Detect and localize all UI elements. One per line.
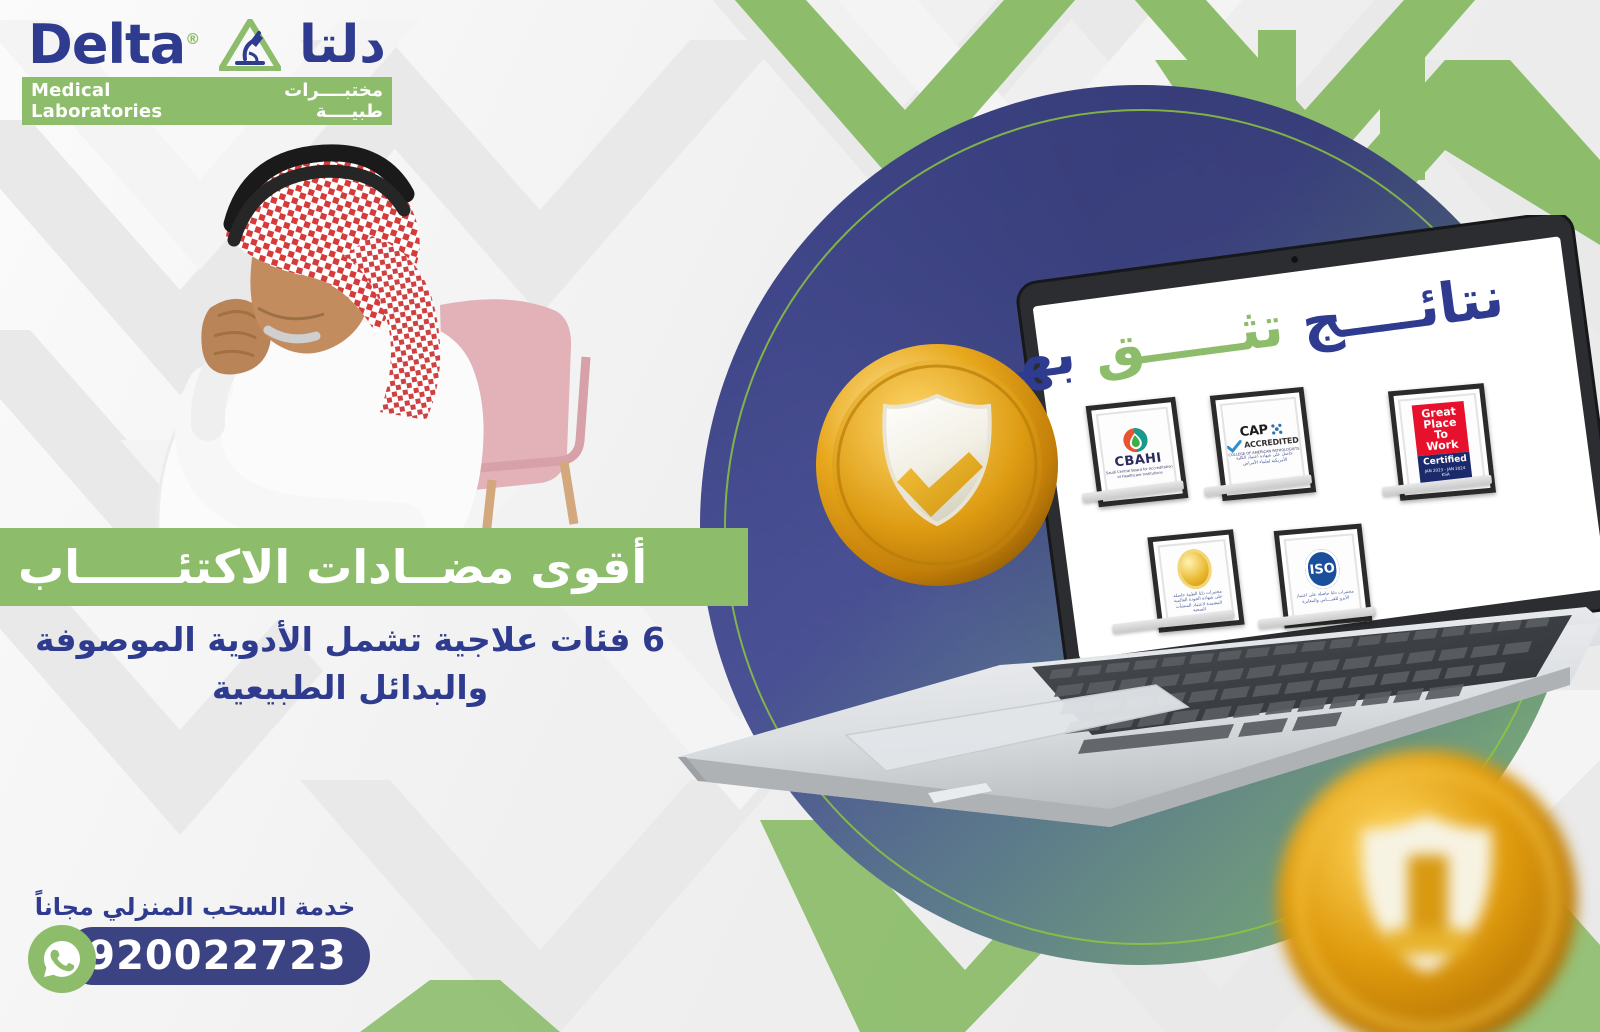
gold-coin-trophy-icon xyxy=(1262,745,1592,1032)
brand-tagline-ar: مختبــــرات طبيــــة xyxy=(227,80,383,122)
poster-canvas: Delta® دلتا Medical Laboratories مختبـــ… xyxy=(0,0,1600,1032)
subheadline-line-1: 6 فئات علاجية تشمل الأدوية الموصوفة xyxy=(0,616,700,664)
brand-tagline-bar: Medical Laboratories مختبــــرات طبيــــ… xyxy=(22,77,392,125)
gold-coin-shield-check-icon xyxy=(812,340,1062,590)
headline-text: أقوى مضــادات الاكتئــــــاب xyxy=(0,540,681,594)
hero-photo-man xyxy=(140,140,610,540)
brand-logo: Delta® دلتا Medical Laboratories مختبـــ… xyxy=(22,18,392,125)
subheadline: 6 فئات علاجية تشمل الأدوية الموصوفة والب… xyxy=(0,616,700,712)
headline-band: أقوى مضــادات الاكتئــــــاب xyxy=(0,528,748,606)
brand-name-ar: دلتا xyxy=(299,19,386,71)
phone-number: 920022723 xyxy=(87,933,347,979)
brand-tagline-en: Medical Laboratories xyxy=(31,80,227,122)
registered-mark-icon: ® xyxy=(185,30,199,48)
subheadline-line-2: والبدائل الطبيعية xyxy=(0,664,700,712)
phone-pill[interactable]: 920022723 xyxy=(64,927,370,985)
whatsapp-icon[interactable] xyxy=(28,925,96,993)
microscope-triangle-icon xyxy=(219,19,281,71)
contact-block: خدمة السحب المنزلي مجاناً 920022723 xyxy=(28,893,388,991)
brand-name-en: Delta® xyxy=(28,18,201,72)
home-service-label: خدمة السحب المنزلي مجاناً xyxy=(28,893,388,921)
